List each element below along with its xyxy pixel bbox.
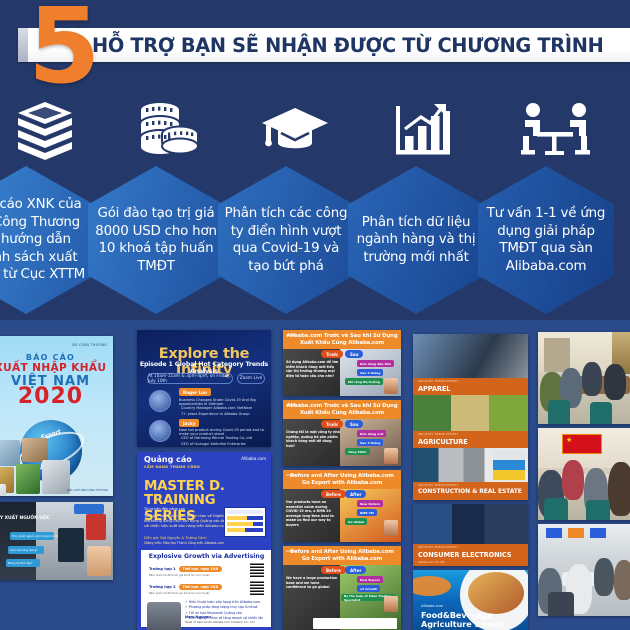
training-session-photo-1[interactable] <box>538 332 630 424</box>
gallery-column-2: Explore the Infinity Episode 1 Global Ho… <box>137 320 271 630</box>
infographic-root: HỖ TRỢ BẠN SẼ NHẬN ĐƯỢC TỪ CHƯƠNG TRÌNH … <box>0 0 630 630</box>
alibaba-banner-2-before: Trước <box>321 420 343 428</box>
traceability-photo-card[interactable]: TRUY XUẤT NGUỒN GỐC Truy xuất nguồn gốc … <box>0 502 113 580</box>
food-beverage-card[interactable]: Alibaba.com Food&Beverage Agriculture tr… <box>413 570 528 630</box>
alibaba-banner-3-chip3: Go Global <box>345 518 367 525</box>
consumer-electronics-footer: Alibaba.com Trả diễn <box>418 561 445 564</box>
alibaba-banner-3-after: After <box>345 490 366 498</box>
speaker-2-line-3: CEO of Guangxi Kaihuitai Enterprise <box>181 442 267 446</box>
benefit-hex-2[interactable]: Gói đào tạo trị giá 8000 USD cho hơn 10 … <box>88 166 224 314</box>
alibaba-banner-3-head2: Go Export with Alibaba.com <box>283 480 401 486</box>
apparel-image <box>413 334 528 378</box>
master-kicker-sub: CẨM NANG THÀNH CÔNG <box>144 465 200 469</box>
header-banner-fold <box>18 28 28 62</box>
consumer-electronics-image <box>413 504 528 544</box>
alibaba-banner-4-footer-strip <box>313 618 397 629</box>
report-year: 2020 <box>0 386 113 408</box>
master-row-1-label: Trường hợp 1 <box>149 567 176 571</box>
training-session-photo-2[interactable]: ★ <box>538 428 630 520</box>
alibaba-banner-1[interactable]: Alibaba Alibaba.com Trước và Sau khi Sử … <box>283 330 401 396</box>
master-row-2-button[interactable]: Thời hạn, ngày 26/8 <box>179 584 222 590</box>
report-line1: BÁO CÁO <box>0 353 113 362</box>
benefit-text-4: Phân tích dữ liệu ngành hàng và thị trườ… <box>348 214 484 267</box>
alibaba-banner-1-head2: Xuất Khẩu Cùng Alibaba.com <box>283 340 401 346</box>
alibaba-banner-1-after: Sau <box>345 350 363 358</box>
alibaba-banner-4-head2: Go Export with Alibaba.com <box>283 556 401 562</box>
master-white-title: Explosive Growth via Advertising <box>141 553 271 560</box>
master-row-1[interactable]: Trường hợp 1 Thời hạn, ngày 19/8 <box>149 564 222 573</box>
report-photo-strip <box>0 438 113 496</box>
alibaba-banner-4[interactable]: Alibaba Before and After Using Alibaba.c… <box>283 546 401 630</box>
webinar-time-pill[interactable]: At 10am-11am & 3pm-4pm, on Friday, July … <box>147 373 233 384</box>
training-session-photo-3[interactable] <box>538 524 630 616</box>
alibaba-banner-2-quote: Chúng tôi là một công ty nhỏ nghiệp, quả… <box>286 430 340 448</box>
master-row-2-label: Trường hợp 2 <box>149 585 176 589</box>
traceability-tag-1: Truy xuất nguồn gốc hàng hoá là gì? <box>12 534 63 538</box>
master-white-panel: Explosive Growth via Advertising Trường … <box>141 550 271 627</box>
master-byline-sub: Giảng viên: Đào tạo Thành Công trên Alib… <box>144 541 224 545</box>
master-qr-1[interactable] <box>250 563 264 577</box>
alibaba-banner-3-chip1: New Orders <box>357 500 383 507</box>
speaker-1-line-2: Country Manager Alibaba.com VietNam <box>181 406 267 410</box>
stacked-coins-icon <box>112 94 222 160</box>
alibaba-banner-4-after: After <box>345 566 366 574</box>
traceability-tag-3: Đăng ký thế nào? <box>8 561 33 565</box>
master-speaker-photo <box>147 602 181 630</box>
apparel-kicker: INDUSTRY TREND REPORT <box>418 380 458 383</box>
alibaba-banner-1-quote: Sử dụng Alibaba.com để tìm kiếm khách hà… <box>286 360 340 378</box>
gallery-column-5: ★ <box>538 320 630 630</box>
alibaba-banner-4-portrait <box>384 596 398 612</box>
alibaba-banner-3-portrait <box>384 520 398 536</box>
consulting-meeting-icon <box>500 94 610 160</box>
report-line2: XUẤT NHẬP KHẨU <box>0 362 113 374</box>
alibaba-banner-4-chip1: New Buyers <box>357 576 383 583</box>
master-title-note: Từ cơ bản đến nâng cao <box>144 507 185 511</box>
alibaba-logo-master: Alibaba.com <box>241 456 266 461</box>
page-title: HỖ TRỢ BẠN SẼ NHẬN ĐƯỢC TỪ CHƯƠNG TRÌNH <box>92 28 625 62</box>
alibaba-banner-3-head1: Before and After Using Alibaba.com <box>283 473 401 479</box>
benefit-text-2: Gói đào tạo trị giá 8000 USD cho hơn 10 … <box>88 205 224 275</box>
benefit-hex-4[interactable]: Phân tích dữ liệu ngành hàng và thị trườ… <box>348 166 484 314</box>
master-body: Trọn bộ hướng dẫn bạn thành thạo về Digi… <box>144 514 228 530</box>
speaker-2-line-2: CEO of Danming Winnie Trading Co.,Ltd <box>181 436 267 440</box>
section-number: 5 <box>28 0 100 98</box>
agriculture-kicker: INDUSTRY TREND REPORT <box>418 433 458 436</box>
industry-reports-card[interactable]: INDUSTRY TREND REPORT APPAREL INDUSTRY T… <box>413 334 528 500</box>
alibaba-banner-2-chip2: Sau 3 tháng <box>357 439 383 446</box>
report-publisher: NHÀ XUẤT BẢN CÔNG THƯƠNG <box>67 489 108 492</box>
benefit-hex-1[interactable]: Báo cáo XNK của Bộ Công Thương và hướng … <box>0 166 94 314</box>
alibaba-banner-3-chip2: RMB 3M <box>357 509 377 516</box>
report-cover-card[interactable]: BỘ CÔNG THƯƠNG BÁO CÁO XUẤT NHẬP KHẨU VI… <box>0 336 113 496</box>
alibaba-banner-2-chip1: Đơn hàng mới <box>357 430 386 437</box>
consumer-electronics-title: CONSUMER ELECTRONICS <box>418 551 511 559</box>
benefit-hex-3[interactable]: Phân tích các công ty điển hình vượt qua… <box>218 166 354 314</box>
alibaba-banner-3[interactable]: Alibaba Before and After Using Alibaba.c… <box>283 470 401 542</box>
alibaba-banner-4-before: Before <box>321 566 346 574</box>
agriculture-title: AGRICULTURE <box>418 438 468 446</box>
alibaba-banner-2[interactable]: Alibaba Alibaba.com Trước và Sau khi Sử … <box>283 400 401 466</box>
speaker-1-avatar <box>149 390 171 412</box>
alibaba-banner-1-chip2: Sau 2 tháng <box>357 369 383 376</box>
benefit-text-3: Phân tích các công ty điển hình vượt qua… <box>218 205 354 275</box>
graduation-cap-icon <box>240 94 350 160</box>
food-beverage-brand: Alibaba.com <box>421 604 443 608</box>
speaker-1-name: Roger Luo <box>179 388 211 396</box>
traceability-label: TRUY XUẤT NGUỒN GỐC <box>0 516 50 521</box>
alibaba-banner-4-quote: We have a large production base and we h… <box>286 576 340 590</box>
master-row-2[interactable]: Trường hợp 2 Thời hạn, ngày 26/8 <box>149 582 222 591</box>
traceability-tag-2: Làm sao ứng dụng? <box>10 548 37 552</box>
apparel-title: APPAREL <box>418 385 450 393</box>
gallery-column-3: Alibaba Alibaba.com Trước và Sau khi Sử … <box>283 320 401 630</box>
speaker-2-avatar <box>149 420 171 442</box>
benefit-text-1: Báo cáo XNK của Bộ Công Thương và hướng … <box>0 196 94 284</box>
master-byline: Diễn giả: Đạt Nguyễn & Trường Cảnh <box>144 536 207 540</box>
report-ministry: BỘ CÔNG THƯƠNG <box>73 343 107 347</box>
gallery-column-1: BỘ CÔNG THƯƠNG BÁO CÁO XUẤT NHẬP KHẨU VI… <box>0 320 113 630</box>
master-speaker-role: Head of Sale South Alibaba.com Thailand … <box>185 620 255 624</box>
master-kicker: Quảng cáo <box>144 455 192 464</box>
speaker-2-line-1: New hot product during Covid-19 period a… <box>179 428 267 436</box>
webinar-join-pill[interactable]: Zoom Live <box>237 373 265 384</box>
agriculture-image <box>413 395 528 431</box>
master-chart-graphic <box>224 507 266 537</box>
alibaba-banner-1-head1: Alibaba.com Trước và Sau khi Sử Dụng <box>283 333 401 339</box>
gallery-section: BỘ CÔNG THƯƠNG BÁO CÁO XUẤT NHẬP KHẨU VI… <box>0 320 630 630</box>
speaker-2-name: Jacky <box>179 419 199 427</box>
master-row-1-button[interactable]: Thời hạn, ngày 19/8 <box>179 566 222 572</box>
webinar-poster-card[interactable]: Explore the Infinity Episode 1 Global Ho… <box>137 330 271 447</box>
benefit-hex-5[interactable]: Tư vấn 1-1 về ứng dụng giải pháp TMĐT qu… <box>478 166 614 314</box>
alibaba-banner-2-head1: Alibaba.com Trước và Sau khi Sử Dụng <box>283 403 401 409</box>
benefit-text-5: Tư vấn 1-1 về ứng dụng giải pháp TMĐT qu… <box>478 205 614 275</box>
alibaba-banner-3-quote: Our products have an essential value dur… <box>286 500 340 528</box>
consumer-electronics-card[interactable]: INDUSTRY TREND REPORT CONSUMER ELECTRONI… <box>413 504 528 566</box>
consumer-electronics-kicker: INDUSTRY TREND REPORT <box>418 546 458 549</box>
alibaba-banner-1-before: Trước <box>321 350 343 358</box>
header-section: HỖ TRỢ BẠN SẼ NHẬN ĐƯỢC TỪ CHƯƠNG TRÌNH … <box>0 0 630 88</box>
food-beverage-title-1: Food&Beverage <box>421 611 493 620</box>
alibaba-banner-4-chip2: x3 Growth <box>357 585 380 592</box>
vietnam-flag-banner: ★ <box>562 434 602 454</box>
bar-chart-growth-icon <box>368 94 478 160</box>
alibaba-banner-3-before: Before <box>321 490 346 498</box>
alibaba-banner-4-head1: Before and After Using Alibaba.com <box>283 549 401 555</box>
master-training-card[interactable]: Quảng cáo CẨM NANG THÀNH CÔNG Alibaba.co… <box>137 452 271 630</box>
alibaba-banner-1-chip1: Đơn hàng đầu tiên <box>357 360 394 367</box>
alibaba-banner-2-portrait <box>384 448 398 464</box>
master-row-1-note: Bấm quét mã để tham gia khoá học trực tu… <box>149 574 210 577</box>
alibaba-banner-2-chip3: Tăng 200% <box>345 448 370 455</box>
gallery-column-4: INDUSTRY TREND REPORT APPAREL INDUSTRY T… <box>413 320 528 630</box>
master-qr-2[interactable] <box>250 581 264 595</box>
alibaba-banner-1-chip3: Mở rộng thị trường <box>345 378 383 385</box>
alibaba-banner-1-portrait <box>384 378 398 394</box>
alibaba-banner-2-head2: Xuất Khẩu Cùng Alibaba.com <box>283 410 401 416</box>
alibaba-banner-2-after: Sau <box>345 420 363 428</box>
speaker-1-line-3: 7+ years Experience in Alibaba Group <box>181 412 267 416</box>
master-speaker-name: Nam Nguyen <box>185 615 211 619</box>
speaker-1-line-1: Business Changes Under Covid-19 And Big … <box>179 398 267 406</box>
master-row-2-note: Bấm quét mã để tham gia khoá học trực tu… <box>149 592 210 595</box>
food-beverage-title-2: Agriculture trends <box>421 620 504 629</box>
construction-title: CONSTRUCTION & REAL ESTATE <box>418 488 522 495</box>
benefits-band: Báo cáo XNK của Bộ Công Thương và hướng … <box>0 88 630 320</box>
construction-kicker: INDUSTRY TREND REPORT <box>418 484 458 487</box>
